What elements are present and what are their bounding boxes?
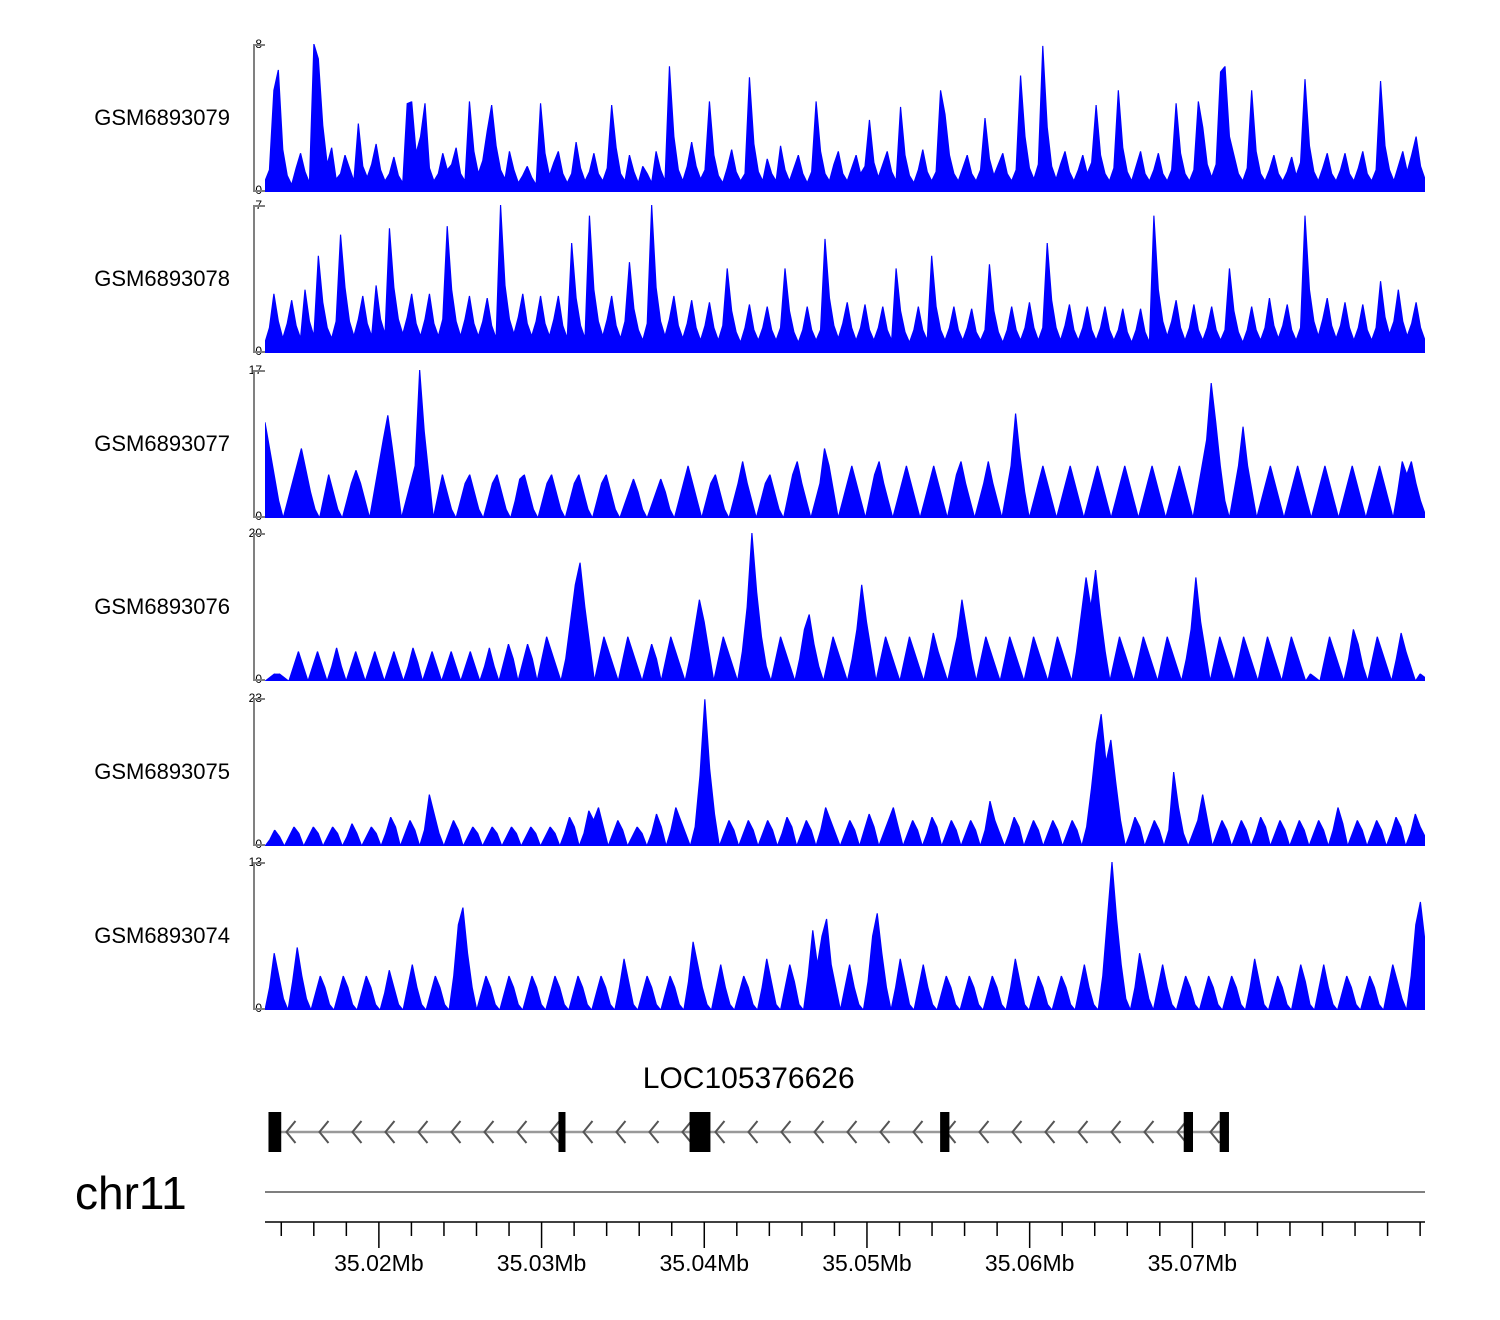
coverage-area-svg bbox=[265, 370, 1425, 518]
track-axis-bracket bbox=[253, 44, 265, 192]
genome-browser-canvas: GSM689307980GSM689307870GSM6893077170GSM… bbox=[0, 0, 1500, 1320]
coverage-area-svg bbox=[265, 205, 1425, 353]
coverage-area-path bbox=[265, 699, 1425, 846]
gene-exon-box[interactable] bbox=[940, 1112, 949, 1152]
coverage-area-svg bbox=[265, 44, 1425, 192]
coverage-area-path bbox=[265, 44, 1425, 192]
gene-exon-box[interactable] bbox=[1184, 1112, 1193, 1152]
coverage-track[interactable]: GSM6893074130 bbox=[0, 862, 1500, 1010]
coverage-track[interactable]: GSM689307870 bbox=[0, 205, 1500, 353]
track-sample-label: GSM6893076 bbox=[94, 596, 230, 618]
coverage-plot-area[interactable] bbox=[265, 44, 1425, 192]
coverage-area-path bbox=[265, 205, 1425, 353]
track-axis-bracket bbox=[253, 862, 265, 1010]
ruler-tick-label: 35.06Mb bbox=[985, 1252, 1075, 1275]
coverage-plot-area[interactable] bbox=[265, 698, 1425, 846]
coverage-track[interactable]: GSM6893075230 bbox=[0, 698, 1500, 846]
gene-model-svg bbox=[0, 1050, 1500, 1180]
ruler-tick-label: 35.07Mb bbox=[1148, 1252, 1238, 1275]
coverage-area-path bbox=[265, 533, 1425, 681]
coverage-plot-area[interactable] bbox=[265, 205, 1425, 353]
coverage-area-svg bbox=[265, 862, 1425, 1010]
gene-exon-box[interactable] bbox=[690, 1112, 711, 1152]
ruler-tick-label: 35.05Mb bbox=[822, 1252, 912, 1275]
track-sample-label: GSM6893079 bbox=[94, 107, 230, 129]
track-sample-label: GSM6893074 bbox=[94, 925, 230, 947]
coverage-area-svg bbox=[265, 698, 1425, 846]
ruler-axis-svg bbox=[0, 1180, 1500, 1290]
coverage-plot-area[interactable] bbox=[265, 533, 1425, 681]
ruler-tick-label: 35.03Mb bbox=[497, 1252, 587, 1275]
gene-exon-box[interactable] bbox=[268, 1112, 281, 1152]
track-sample-label: GSM6893075 bbox=[94, 761, 230, 783]
track-sample-label: GSM6893078 bbox=[94, 268, 230, 290]
gene-model-panel[interactable]: LOC105376626 bbox=[0, 1050, 1500, 1180]
coverage-area-svg bbox=[265, 533, 1425, 681]
gene-exon-box[interactable] bbox=[1220, 1112, 1229, 1152]
coverage-track[interactable]: GSM6893077170 bbox=[0, 370, 1500, 518]
chromosome-ruler-panel: chr11 35.02Mb35.03Mb35.04Mb35.05Mb35.06M… bbox=[0, 1180, 1500, 1290]
track-axis-bracket bbox=[253, 698, 265, 846]
coverage-plot-area[interactable] bbox=[265, 370, 1425, 518]
track-sample-label: GSM6893077 bbox=[94, 433, 230, 455]
coverage-track[interactable]: GSM689307980 bbox=[0, 44, 1500, 192]
coverage-area-path bbox=[265, 862, 1425, 1010]
ruler-tick-label: 35.04Mb bbox=[660, 1252, 750, 1275]
coverage-area-path bbox=[265, 370, 1425, 518]
track-axis-bracket bbox=[253, 205, 265, 353]
ruler-tick-label: 35.02Mb bbox=[334, 1252, 424, 1275]
coverage-track[interactable]: GSM6893076200 bbox=[0, 533, 1500, 681]
track-axis-bracket bbox=[253, 370, 265, 518]
gene-exon-box[interactable] bbox=[558, 1112, 565, 1152]
coverage-plot-area[interactable] bbox=[265, 862, 1425, 1010]
track-axis-bracket bbox=[253, 533, 265, 681]
